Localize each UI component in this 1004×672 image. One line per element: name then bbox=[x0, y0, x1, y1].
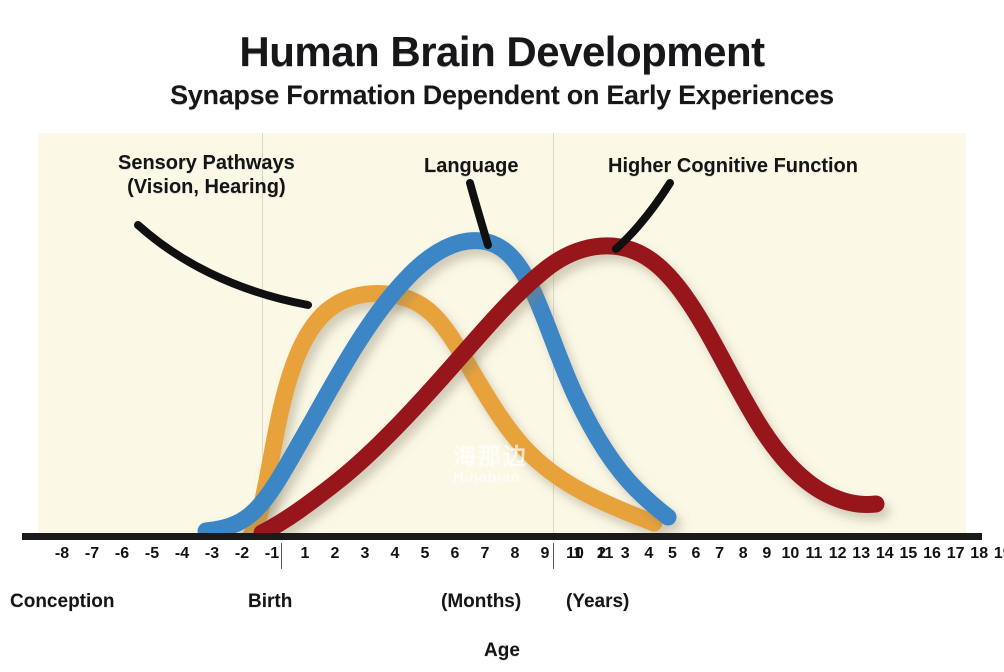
axis-tick-months-1: 1 bbox=[301, 545, 310, 563]
axis-tick-years-2: 2 bbox=[597, 545, 606, 563]
axis-label-years: (Years) bbox=[566, 591, 629, 613]
axis-tick-conception--2: -2 bbox=[235, 545, 249, 563]
axis-tick-months-6: 6 bbox=[451, 545, 460, 563]
axis-label-months: (Months) bbox=[441, 591, 521, 613]
axis-tick-months-9: 9 bbox=[541, 545, 550, 563]
axis-label-birth: Birth bbox=[248, 591, 292, 613]
axis-tick-months-7: 7 bbox=[481, 545, 490, 563]
axis-label-conception: Conception bbox=[10, 591, 115, 613]
leader-line-sensory bbox=[138, 225, 308, 305]
axis-tick-years-1: 1 bbox=[574, 545, 583, 563]
axis-tick-months-5: 5 bbox=[421, 545, 430, 563]
axis-tick-years-3: 3 bbox=[621, 545, 630, 563]
axis-tick-years-13: 13 bbox=[852, 545, 870, 563]
axis-tick-separator-1 bbox=[281, 543, 282, 569]
axis-tick-conception--7: -7 bbox=[85, 545, 99, 563]
axis-tick-separator-2 bbox=[553, 543, 554, 569]
axis-tick-conception--1: -1 bbox=[265, 545, 279, 563]
leader-line-higher bbox=[616, 183, 670, 249]
axis-tick-conception--4: -4 bbox=[175, 545, 189, 563]
annotation-language: Language bbox=[424, 155, 518, 179]
axis-tick-years-8: 8 bbox=[739, 545, 748, 563]
axis-tick-years-15: 15 bbox=[899, 545, 917, 563]
axis-tick-months-8: 8 bbox=[511, 545, 520, 563]
axis-title-age: Age bbox=[0, 640, 1004, 662]
axis-tick-conception--6: -6 bbox=[115, 545, 129, 563]
axis-tick-years-12: 12 bbox=[829, 545, 847, 563]
axis-tick-years-19: 19 bbox=[994, 545, 1004, 563]
axis-tick-months-4: 4 bbox=[391, 545, 400, 563]
annotation-sensory-pathways: Sensory Pathways (Vision, Hearing) bbox=[118, 152, 295, 199]
axis-tick-years-18: 18 bbox=[970, 545, 988, 563]
axis-tick-years-10: 10 bbox=[781, 545, 799, 563]
axis-tick-years-11: 11 bbox=[806, 545, 823, 563]
axis-tick-conception--3: -3 bbox=[205, 545, 219, 563]
axis-tick-years-7: 7 bbox=[715, 545, 724, 563]
axis-tick-months-3: 3 bbox=[361, 545, 370, 563]
axis-tick-months-2: 2 bbox=[331, 545, 340, 563]
axis-tick-years-9: 9 bbox=[762, 545, 771, 563]
annotation-higher-cognitive-function: Higher Cognitive Function bbox=[608, 155, 858, 179]
axis-tick-years-6: 6 bbox=[692, 545, 701, 563]
axis-tick-years-5: 5 bbox=[668, 545, 677, 563]
axis-tick-years-17: 17 bbox=[947, 545, 965, 563]
axis-tick-conception--8: -8 bbox=[55, 545, 69, 563]
title-block: Human Brain Development Synapse Formatio… bbox=[0, 30, 1004, 109]
axis-tick-conception--5: -5 bbox=[145, 545, 159, 563]
axis-baseline bbox=[22, 533, 982, 540]
annotation-sensory-line2: (Vision, Hearing) bbox=[118, 176, 295, 200]
page-title: Human Brain Development bbox=[0, 30, 1004, 74]
page-subtitle: Synapse Formation Dependent on Early Exp… bbox=[0, 81, 1004, 109]
annotation-sensory-line1: Sensory Pathways bbox=[118, 152, 295, 176]
axis-tick-years-16: 16 bbox=[923, 545, 941, 563]
axis-tick-row: -8-7-6-5-4-3-2-1123456789101112345678910… bbox=[0, 545, 1004, 569]
axis-tick-years-4: 4 bbox=[644, 545, 653, 563]
axis-tick-years-14: 14 bbox=[876, 545, 894, 563]
